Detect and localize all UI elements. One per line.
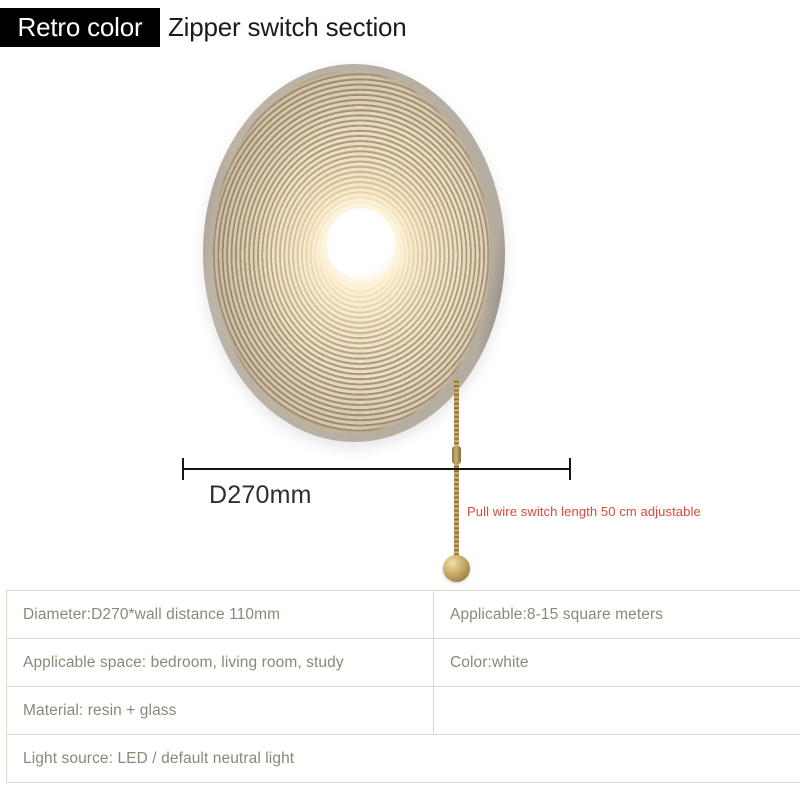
page-title: Zipper switch section xyxy=(168,8,407,47)
spec-cell-applicable-space: Applicable space: bedroom, living room, … xyxy=(7,639,434,687)
spec-cell-diameter: Diameter:D270*wall distance 110mm xyxy=(7,591,434,639)
light-globe-icon xyxy=(327,208,395,280)
pull-chain-lower[interactable] xyxy=(454,463,459,563)
table-row: Applicable space: bedroom, living room, … xyxy=(7,639,800,687)
pull-chain-knob[interactable] xyxy=(443,555,470,582)
spec-cell-material: Material: resin + glass xyxy=(7,687,434,735)
pull-wire-note: Pull wire switch length 50 cm adjustable xyxy=(467,504,701,519)
pull-chain-connector[interactable] xyxy=(452,446,461,464)
retro-color-badge: Retro color xyxy=(0,8,160,47)
spec-cell-color: Color:white xyxy=(434,639,800,687)
product-photo: D270mm Pull wire switch length 50 cm adj… xyxy=(0,56,800,580)
spec-cell-empty xyxy=(434,687,800,735)
page-header: Retro color Zipper switch section xyxy=(0,0,800,56)
spec-cell-applicable-area: Applicable:8-15 square meters xyxy=(434,591,800,639)
pull-chain-upper[interactable] xyxy=(454,378,459,446)
table-row: Light source: LED / default neutral ligh… xyxy=(7,735,800,783)
dimension-label: D270mm xyxy=(209,481,312,510)
dimension-tick-right xyxy=(569,458,571,480)
spec-cell-light-source: Light source: LED / default neutral ligh… xyxy=(7,735,800,783)
dimension-tick-left xyxy=(182,458,184,480)
table-row: Material: resin + glass xyxy=(7,687,800,735)
dimension-line xyxy=(182,468,571,470)
table-row: Diameter:D270*wall distance 110mm Applic… xyxy=(7,591,800,639)
specification-table: Diameter:D270*wall distance 110mm Applic… xyxy=(6,590,800,783)
